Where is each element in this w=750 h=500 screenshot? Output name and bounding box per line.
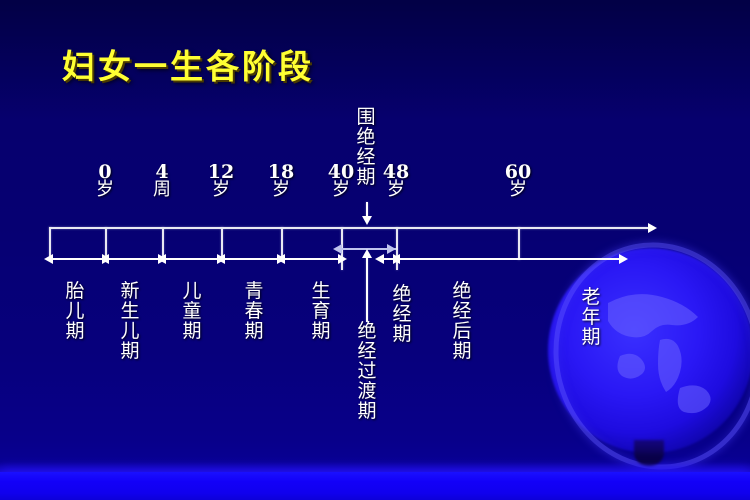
vertical-char: 期	[451, 342, 473, 362]
vertical-char: 期	[356, 402, 378, 422]
vertical-char: 绝	[391, 285, 413, 305]
vertical-char: 期	[119, 342, 141, 362]
vertical-char: 期	[355, 168, 377, 188]
age-label-t60: 60岁	[496, 163, 540, 200]
timeline-main-arrowhead	[648, 223, 657, 233]
vertical-char: 期	[181, 322, 203, 342]
age-unit: 岁	[374, 181, 418, 199]
segment-line-seg-adolescence	[224, 258, 278, 260]
vertical-char: 生	[310, 282, 332, 302]
segment-arrow-left-seg-adolescence	[216, 254, 225, 264]
timeline-tick-t60	[518, 227, 520, 260]
slide-canvas: 妇女一生各阶段 0岁4周12岁18岁40岁48岁60岁 围绝经期 胎儿期新生儿期…	[0, 0, 750, 500]
stage-label-postmenopause: 绝经后期	[451, 282, 473, 362]
vertical-char: 经	[356, 342, 378, 362]
vertical-char: 经	[391, 305, 413, 325]
segment-arrow-left-seg-childhood	[157, 254, 166, 264]
segment-arrow-left-seg-reproductive	[276, 254, 285, 264]
stage-label-reproductive: 生育期	[310, 282, 332, 342]
perimenopause-span-arrow-right	[387, 244, 396, 254]
vertical-char: 围	[355, 108, 377, 128]
age-label-t48: 48岁	[374, 163, 418, 200]
segment-arrow-left-seg-menopause	[375, 254, 384, 264]
transition-leader-arrow	[362, 249, 372, 258]
segment-arrow-left-seg-newborn	[100, 254, 109, 264]
vertical-char: 年	[580, 308, 602, 328]
vertical-char: 经	[451, 302, 473, 322]
vertical-char: 期	[64, 322, 86, 342]
page-title: 妇女一生各阶段	[62, 40, 314, 88]
perimenopause-pointer-arrow	[362, 216, 372, 225]
segment-arrow-right-seg-post-senes	[619, 254, 628, 264]
vertical-char: 绝	[451, 282, 473, 302]
segment-line-seg-fetal	[52, 258, 103, 260]
vertical-char: 绝	[355, 128, 377, 148]
perimenopause-span-arrow-left	[333, 244, 342, 254]
age-label-t0: 0岁	[83, 163, 127, 200]
vertical-char: 期	[243, 322, 265, 342]
segment-arrow-left-seg-fetal	[44, 254, 53, 264]
segment-arrow-left-seg-post-senes	[391, 254, 400, 264]
footer-accent-band	[0, 472, 750, 500]
segment-line-seg-childhood	[165, 258, 218, 260]
age-unit: 岁	[199, 181, 243, 199]
vertical-char: 渡	[356, 382, 378, 402]
vertical-char: 老	[580, 288, 602, 308]
vertical-char: 春	[243, 302, 265, 322]
age-label-t12: 12岁	[199, 163, 243, 200]
age-unit: 周	[140, 181, 184, 199]
vertical-char: 儿	[181, 282, 203, 302]
vertical-char: 新	[119, 282, 141, 302]
stage-label-adolescence: 青春期	[243, 282, 265, 342]
vertical-char: 期	[391, 325, 413, 345]
vertical-char: 期	[310, 322, 332, 342]
stage-label-fetal: 胎儿期	[64, 282, 86, 342]
stage-label-transition: 绝经过渡期	[356, 322, 378, 422]
age-unit: 岁	[496, 181, 540, 199]
stage-label-childhood: 儿童期	[181, 282, 203, 342]
vertical-char: 过	[356, 362, 378, 382]
vertical-char: 青	[243, 282, 265, 302]
segment-line-seg-reproductive	[284, 258, 339, 260]
vertical-char: 儿	[64, 302, 86, 322]
vertical-char: 胎	[64, 282, 86, 302]
vertical-char: 童	[181, 302, 203, 322]
vertical-char: 经	[355, 148, 377, 168]
vertical-char: 生	[119, 302, 141, 322]
timeline-main-line	[49, 227, 648, 229]
vertical-char: 育	[310, 302, 332, 322]
age-label-t4: 4周	[140, 163, 184, 200]
segment-arrow-right-seg-reproductive	[338, 254, 347, 264]
stage-label-senescence: 老年期	[580, 288, 602, 348]
stage-label-menopause: 绝经期	[391, 285, 413, 345]
vertical-char: 后	[451, 322, 473, 342]
segment-line-seg-newborn	[108, 258, 159, 260]
vertical-char: 儿	[119, 322, 141, 342]
vertical-char: 绝	[356, 322, 378, 342]
transition-leader-line	[366, 256, 368, 322]
age-label-t18: 18岁	[259, 163, 303, 200]
age-unit: 岁	[259, 181, 303, 199]
perimenopause-label: 围绝经期	[355, 108, 377, 188]
vertical-char: 期	[580, 328, 602, 348]
segment-line-seg-post-senes	[399, 258, 620, 260]
age-unit: 岁	[83, 181, 127, 199]
stage-label-newborn: 新生儿期	[119, 282, 141, 362]
